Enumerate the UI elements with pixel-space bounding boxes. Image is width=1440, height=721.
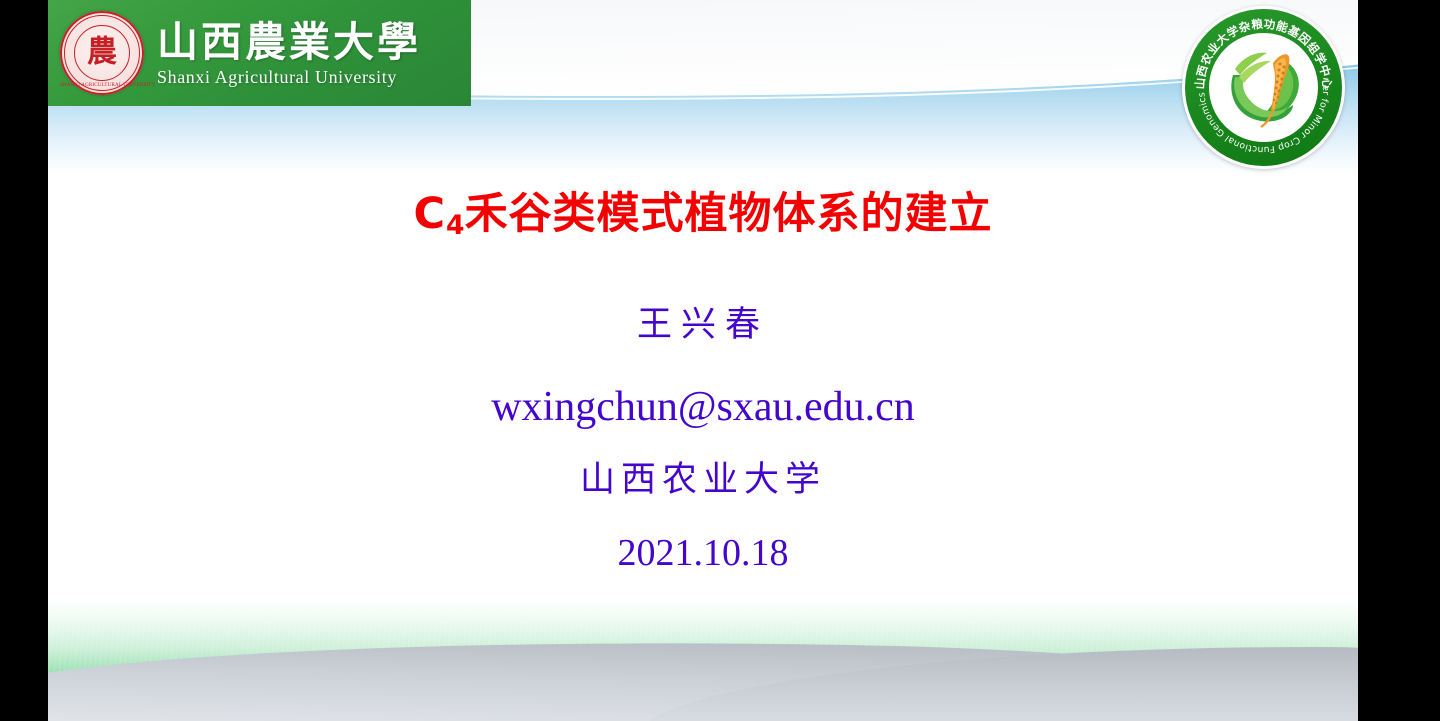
letterbox-bar-left xyxy=(0,0,48,721)
author-name: 王兴春 xyxy=(48,305,1358,345)
presentation-date: 2021.10.18 xyxy=(48,531,1358,575)
millet-and-leaf-emblem-icon xyxy=(1209,33,1318,142)
slide-body-text: 王兴春 wxingchun@sxau.edu.cn 山西农业大学 2021.10… xyxy=(48,305,1358,575)
university-name-group: 山西農業大學 Shanxi Agricultural University xyxy=(157,19,421,88)
university-logo-banner: 農 SHANXI AGRICULTURAL UNIVERSITY 山西農業大學 … xyxy=(48,0,471,106)
organization-name: 山西农业大学 xyxy=(48,459,1358,501)
seal-inner-disc xyxy=(1209,33,1318,142)
title-subscript: 4 xyxy=(446,210,465,241)
university-name-english: Shanxi Agricultural University xyxy=(157,66,421,88)
author-email: wxingchun@sxau.edu.cn xyxy=(48,383,1358,431)
slide-viewport: 農 SHANXI AGRICULTURAL UNIVERSITY 山西農業大學 … xyxy=(0,0,1440,721)
title-rest: 禾谷类模式植物体系的建立 xyxy=(465,189,993,239)
crest-micro-text: SHANXI AGRICULTURAL UNIVERSITY xyxy=(60,83,144,88)
slide-title: C4禾谷类模式植物体系的建立 xyxy=(48,188,1358,246)
letterbox-bar-right xyxy=(1358,0,1440,721)
title-prefix: C xyxy=(413,189,446,239)
presentation-slide: 農 SHANXI AGRICULTURAL UNIVERSITY 山西農業大學 … xyxy=(48,0,1358,721)
crest-center-glyph: 農 xyxy=(60,37,144,67)
university-name-chinese: 山西農業大學 xyxy=(157,19,421,65)
research-center-seal-logo: 山西农业大学杂粮功能基因组学中心 Center for Minor Crop F… xyxy=(1182,6,1345,169)
university-crest-icon: 農 SHANXI AGRICULTURAL UNIVERSITY xyxy=(60,11,144,95)
